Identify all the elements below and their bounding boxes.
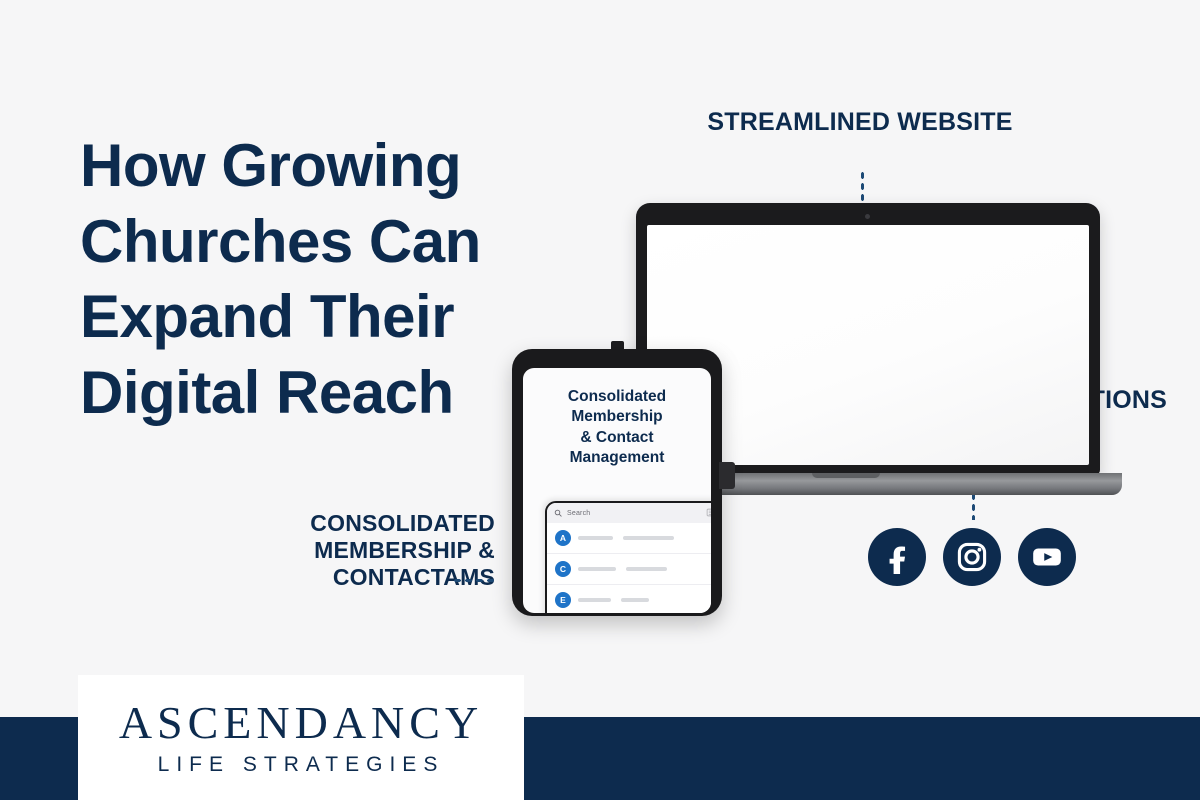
avatar: A [555, 530, 571, 546]
page-title: How Growing Churches Can Expand Their Di… [80, 128, 550, 430]
contact-list-app: Search A [545, 501, 711, 613]
search-bar[interactable]: Search [547, 503, 711, 523]
tablet-heading: Consolidated Membership & Contact Manage… [533, 387, 701, 469]
filter-icon[interactable] [706, 504, 711, 522]
facebook-icon[interactable] [868, 528, 926, 586]
poster-canvas: How Growing Churches Can Expand Their Di… [0, 0, 1200, 800]
tablet-volume-button[interactable] [719, 462, 735, 489]
laptop-base-notch [812, 473, 880, 478]
avatar: C [555, 561, 571, 577]
instagram-icon[interactable] [943, 528, 1001, 586]
callout-consolidated-membership-contacts: CONSOLIDATED MEMBERSHIP & CONTACTAMS [175, 510, 495, 591]
logo-wordmark: ASCENDANCY [119, 700, 483, 746]
list-item-placeholder-lines [578, 560, 705, 578]
search-input[interactable]: Search [567, 510, 590, 517]
social-links [868, 528, 1076, 586]
laptop-camera-icon [865, 214, 870, 219]
avatar: E [555, 592, 571, 608]
brand-logo: ASCENDANCY LIFE STRATEGIES [78, 675, 524, 800]
dotted-connector-contacts [452, 578, 494, 583]
youtube-icon[interactable] [1018, 528, 1076, 586]
tablet-body: Consolidated Membership & Contact Manage… [512, 349, 722, 616]
search-icon [554, 504, 562, 522]
callout-streamlined-website: STREAMLINED WEBSITE [700, 108, 1020, 138]
list-item-placeholder-lines [578, 529, 705, 547]
list-item[interactable]: C › [547, 554, 711, 585]
list-item-placeholder-lines [578, 591, 705, 609]
tablet-screen: Consolidated Membership & Contact Manage… [523, 368, 711, 613]
logo-tagline: LIFE STRATEGIES [158, 754, 445, 775]
list-item[interactable]: A › [547, 523, 711, 554]
tablet-mockup: Consolidated Membership & Contact Manage… [512, 341, 722, 616]
list-item[interactable]: E › [547, 585, 711, 613]
